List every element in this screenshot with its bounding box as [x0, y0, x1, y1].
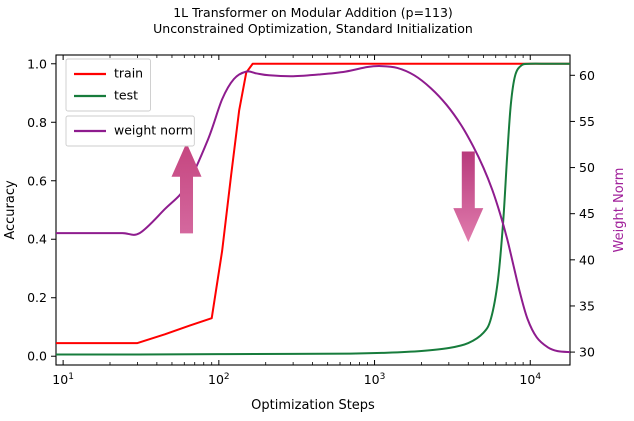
y-tick-label-left: 1.0	[27, 56, 47, 71]
y-tick-label-left: 0.0	[27, 349, 47, 364]
x-tick-label: 102	[208, 372, 230, 387]
chart-subtitle: Unconstrained Optimization, Standard Ini…	[153, 21, 473, 36]
x-axis-label: Optimization Steps	[251, 398, 375, 413]
x-tick-label: 103	[364, 372, 386, 387]
y-tick-label-right: 60	[579, 68, 595, 83]
y-tick-label-left: 0.4	[27, 232, 47, 247]
x-tick-label: 101	[52, 372, 74, 387]
legend-label-weight-norm: weight norm	[114, 123, 193, 138]
y-tick-label-left: 0.8	[27, 115, 47, 130]
y-tick-label-right: 35	[579, 298, 595, 313]
y-tick-label-right: 55	[579, 114, 595, 129]
y-axis-right-ticks: 30354045505560	[570, 68, 595, 360]
y-tick-label-left: 0.6	[27, 173, 47, 188]
weight-norm-increase-arrow	[172, 143, 202, 234]
chart-title: 1L Transformer on Modular Addition (p=11…	[173, 5, 453, 20]
chart-legend[interactable]: traintestweight norm	[66, 59, 194, 146]
y-tick-label-left: 0.2	[27, 290, 47, 305]
y-axis-label-right: Weight Norm	[612, 168, 627, 253]
y-tick-label-right: 45	[579, 206, 595, 221]
legend-label-train: train	[114, 66, 143, 81]
legend-label-test: test	[114, 88, 138, 103]
annotation-arrows	[172, 143, 484, 242]
y-axis-left-ticks: 0.00.20.40.60.81.0	[27, 56, 56, 363]
y-tick-label-right: 40	[579, 252, 595, 267]
chart-figure: 1L Transformer on Modular Addition (p=11…	[0, 0, 634, 421]
y-tick-label-right: 30	[579, 345, 595, 360]
chart-canvas: 1L Transformer on Modular Addition (p=11…	[0, 0, 634, 421]
weight-norm-decrease-arrow	[453, 152, 483, 243]
x-tick-label: 104	[519, 372, 541, 387]
y-tick-label-right: 50	[579, 160, 595, 175]
y-axis-label-left: Accuracy	[3, 180, 18, 240]
